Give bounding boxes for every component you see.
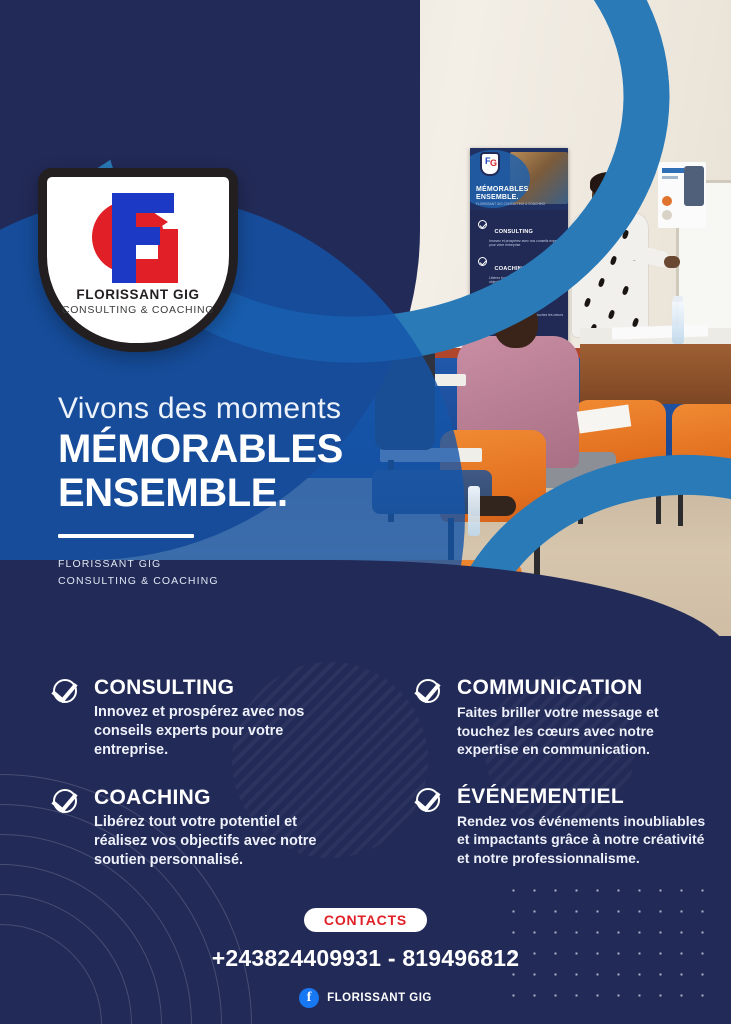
service-description: Innovez et prospérez avec nos conseils e… (94, 703, 352, 760)
contacts-phone[interactable]: +243824409931 - 819496812 (0, 945, 731, 972)
check-circle-icon (52, 678, 78, 704)
hero-line-bold-1: MÉMORABLES (58, 428, 478, 470)
social-handle[interactable]: FLORISSANT GIG (327, 992, 432, 1004)
logo-monogram-icon (88, 189, 188, 285)
hero-subtext: FLORISSANT GIG CONSULTING & COACHING (58, 556, 478, 590)
table-front-panel (580, 344, 731, 404)
service-description: Faites briller votre message et touchez … (457, 703, 715, 759)
service-item-consulting: CONSULTING Innovez et prospérez avec nos… (52, 676, 352, 760)
facebook-icon[interactable]: f (299, 988, 319, 1008)
check-circle-icon (52, 788, 78, 814)
services-section: CONSULTING Innovez et prospérez avec nos… (0, 676, 731, 906)
hero-line-light: Vivons des moments (58, 392, 478, 426)
check-circle-icon (415, 678, 441, 704)
logo-brand-name: FLORISSANT GIG (76, 287, 199, 302)
service-title: ÉVÉNEMENTIEL (457, 785, 715, 809)
wall-poster (658, 162, 706, 228)
water-bottle-cap (673, 296, 683, 302)
services-column-left: CONSULTING Innovez et prospérez avec nos… (52, 676, 352, 896)
service-title: CONSULTING (94, 676, 352, 700)
contacts-badge: CONTACTS (304, 908, 427, 932)
logo-brand-tagline: CONSULTING & COACHING (62, 304, 214, 316)
service-description: Libérez tout votre potentiel et réalisez… (94, 813, 352, 870)
logo-badge: FLORISSANT GIG CONSULTING & COACHING (38, 168, 238, 352)
service-item-evenementiel: ÉVÉNEMENTIEL Rendez vos événements inoub… (415, 785, 715, 868)
service-title: COMMUNICATION (457, 676, 715, 700)
hero-line-bold-2: ENSEMBLE. (58, 472, 478, 514)
poster: F G MÉMORABLES ENSEMBLE. FLORISSANT GIG … (0, 0, 731, 1024)
check-circle-icon (415, 787, 441, 813)
contacts-section: CONTACTS +243824409931 - 819496812 f FLO… (0, 908, 731, 1008)
hero-subtext-line-2: CONSULTING & COACHING (58, 573, 478, 590)
water-bottle (672, 300, 684, 344)
social-row[interactable]: f FLORISSANT GIG (0, 988, 731, 1008)
service-item-communication: COMMUNICATION Faites briller votre messa… (415, 676, 715, 759)
hero-headline: Vivons des moments MÉMORABLES ENSEMBLE. … (58, 392, 478, 590)
hero-divider (58, 534, 194, 538)
presenter-hand (664, 256, 680, 268)
service-item-coaching: COACHING Libérez tout votre potentiel et… (52, 786, 352, 870)
services-column-right: COMMUNICATION Faites briller votre messa… (415, 676, 715, 893)
hero-subtext-line-1: FLORISSANT GIG (58, 556, 478, 573)
service-title: COACHING (94, 786, 352, 810)
service-description: Rendez vos événements inoubliables et im… (457, 812, 715, 868)
